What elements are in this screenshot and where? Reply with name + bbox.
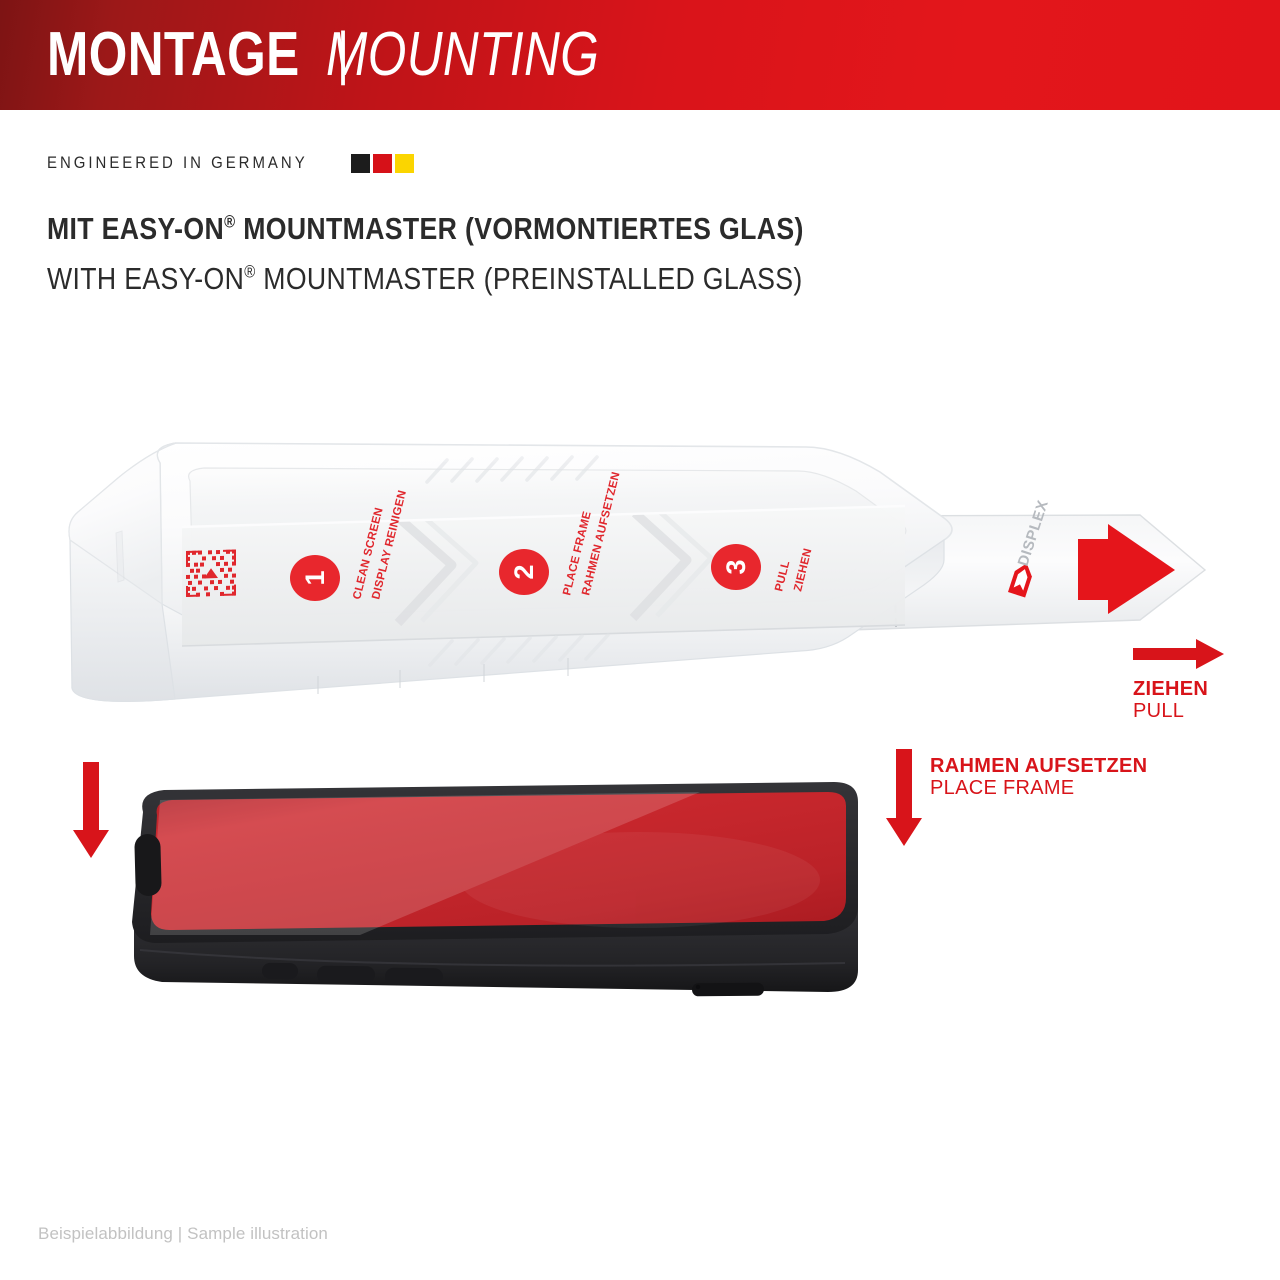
shell-left-wall — [69, 443, 176, 701]
shell-left-slot — [116, 531, 124, 582]
subtitle-en-part2: MOUNTMASTER (PREINSTALLED GLASS) — [256, 261, 803, 296]
step-2: 2 PLACE FRAME RAHMEN AUFSETZEN — [499, 471, 623, 597]
step-2-badge — [499, 549, 549, 595]
step-2-label-de: RAHMEN AUFSETZEN — [580, 471, 622, 597]
header-band: MONTAGE|MOUNTING — [0, 0, 1280, 110]
step-2-number: 2 — [509, 564, 539, 579]
place-frame-arrow-icon — [886, 749, 922, 846]
pull-tab: DISPLEX — [848, 498, 1205, 630]
shell-left-top-wedge — [69, 443, 176, 604]
engineered-in-germany: ENGINEERED IN GERMANY — [47, 152, 414, 174]
step-3: 3 PULL ZIEHEN — [711, 544, 815, 593]
shell-top-face — [157, 443, 952, 618]
subtitle-block: MIT EASY-ON® MOUNTMASTER (VORMONTIERTES … — [47, 213, 1047, 294]
grip-ribs-top — [427, 457, 597, 482]
inner-glass-panel — [189, 468, 906, 601]
instruction-label-strip — [182, 506, 905, 646]
grip-ribs-bottom — [430, 635, 608, 665]
shell-right-wall — [72, 540, 944, 701]
dynamic-island-icon — [134, 834, 162, 897]
step-1-label-de: DISPLAY REINIGEN — [370, 489, 409, 601]
qr-code-icon — [186, 550, 236, 597]
volume-up-button[interactable] — [317, 966, 375, 984]
subtitle-de: MIT EASY-ON® MOUNTMASTER (VORMONTIERTES … — [47, 213, 1047, 244]
step-3-badge — [711, 544, 761, 590]
product-illustration: DISPLEX — [0, 0, 1280, 1280]
phone-bezel — [132, 782, 858, 943]
volume-down-button[interactable] — [385, 968, 443, 986]
place-frame-arrow-left-icon — [73, 762, 109, 858]
subtitle-de-part1: MIT EASY-ON — [47, 211, 224, 246]
subtitle-en-registered-mark: ® — [244, 262, 255, 282]
displex-wordmark: DISPLEX — [1015, 498, 1052, 568]
callout-place-frame-de: RAHMEN AUFSETZEN — [930, 755, 1147, 777]
smartphone — [132, 782, 858, 996]
engineered-in-germany-label: ENGINEERED IN GERMANY — [47, 153, 308, 173]
flag-square-red — [373, 154, 392, 173]
step-1-badge — [290, 555, 340, 601]
phone-body-edge-highlight — [140, 950, 845, 966]
shell-front-notches — [318, 658, 568, 694]
sample-illustration-note: Beispielabbildung | Sample illustration — [38, 1224, 328, 1244]
tab-perforation — [893, 521, 896, 626]
pull-arrow-icon — [1133, 639, 1224, 669]
subtitle-de-part2: MOUNTMASTER (VORMONTIERTES GLAS) — [235, 211, 803, 246]
flag-square-black — [351, 154, 370, 173]
page-title-de: MONTAGE — [47, 24, 300, 86]
subtitle-en: WITH EASY-ON® MOUNTMASTER (PREINSTALLED … — [47, 263, 1047, 294]
mountmaster-frame: DISPLEX — [69, 443, 1205, 701]
page-title: MONTAGE|MOUNTING — [47, 24, 667, 86]
microphone-hole — [696, 985, 700, 989]
power-button[interactable] — [692, 983, 764, 997]
phone-screen — [151, 792, 846, 930]
subtitle-en-part1: WITH EASY-ON — [47, 261, 244, 296]
step-3-label-en: PULL — [773, 560, 792, 593]
step-1-label-en: CLEAN SCREEN — [351, 506, 385, 600]
tab-red-arrow-icon — [1078, 524, 1175, 614]
shell-gloss — [176, 447, 800, 478]
page-title-en: MOUNTING — [326, 24, 599, 86]
step-3-label-de: ZIEHEN — [792, 547, 814, 593]
callout-place-frame-en: PLACE FRAME — [930, 777, 1147, 799]
callout-pull-de: ZIEHEN — [1133, 678, 1208, 700]
phone-side-body — [134, 898, 858, 992]
step-2-label-en: PLACE FRAME — [561, 510, 594, 597]
callout-place-frame: RAHMEN AUFSETZEN PLACE FRAME — [930, 755, 1147, 800]
displex-logo-icon — [1008, 561, 1035, 598]
step-1: 1 CLEAN SCREEN DISPLAY REINIGEN — [290, 489, 409, 601]
flag-square-yellow — [395, 154, 414, 173]
callout-pull-en: PULL — [1133, 700, 1208, 722]
mute-switch[interactable] — [262, 963, 298, 979]
subtitle-de-registered-mark: ® — [224, 212, 235, 232]
callout-pull: ZIEHEN PULL — [1133, 678, 1208, 723]
step-1-number: 1 — [300, 570, 330, 585]
german-flag-icon — [351, 154, 414, 173]
step-3-number: 3 — [721, 559, 751, 574]
